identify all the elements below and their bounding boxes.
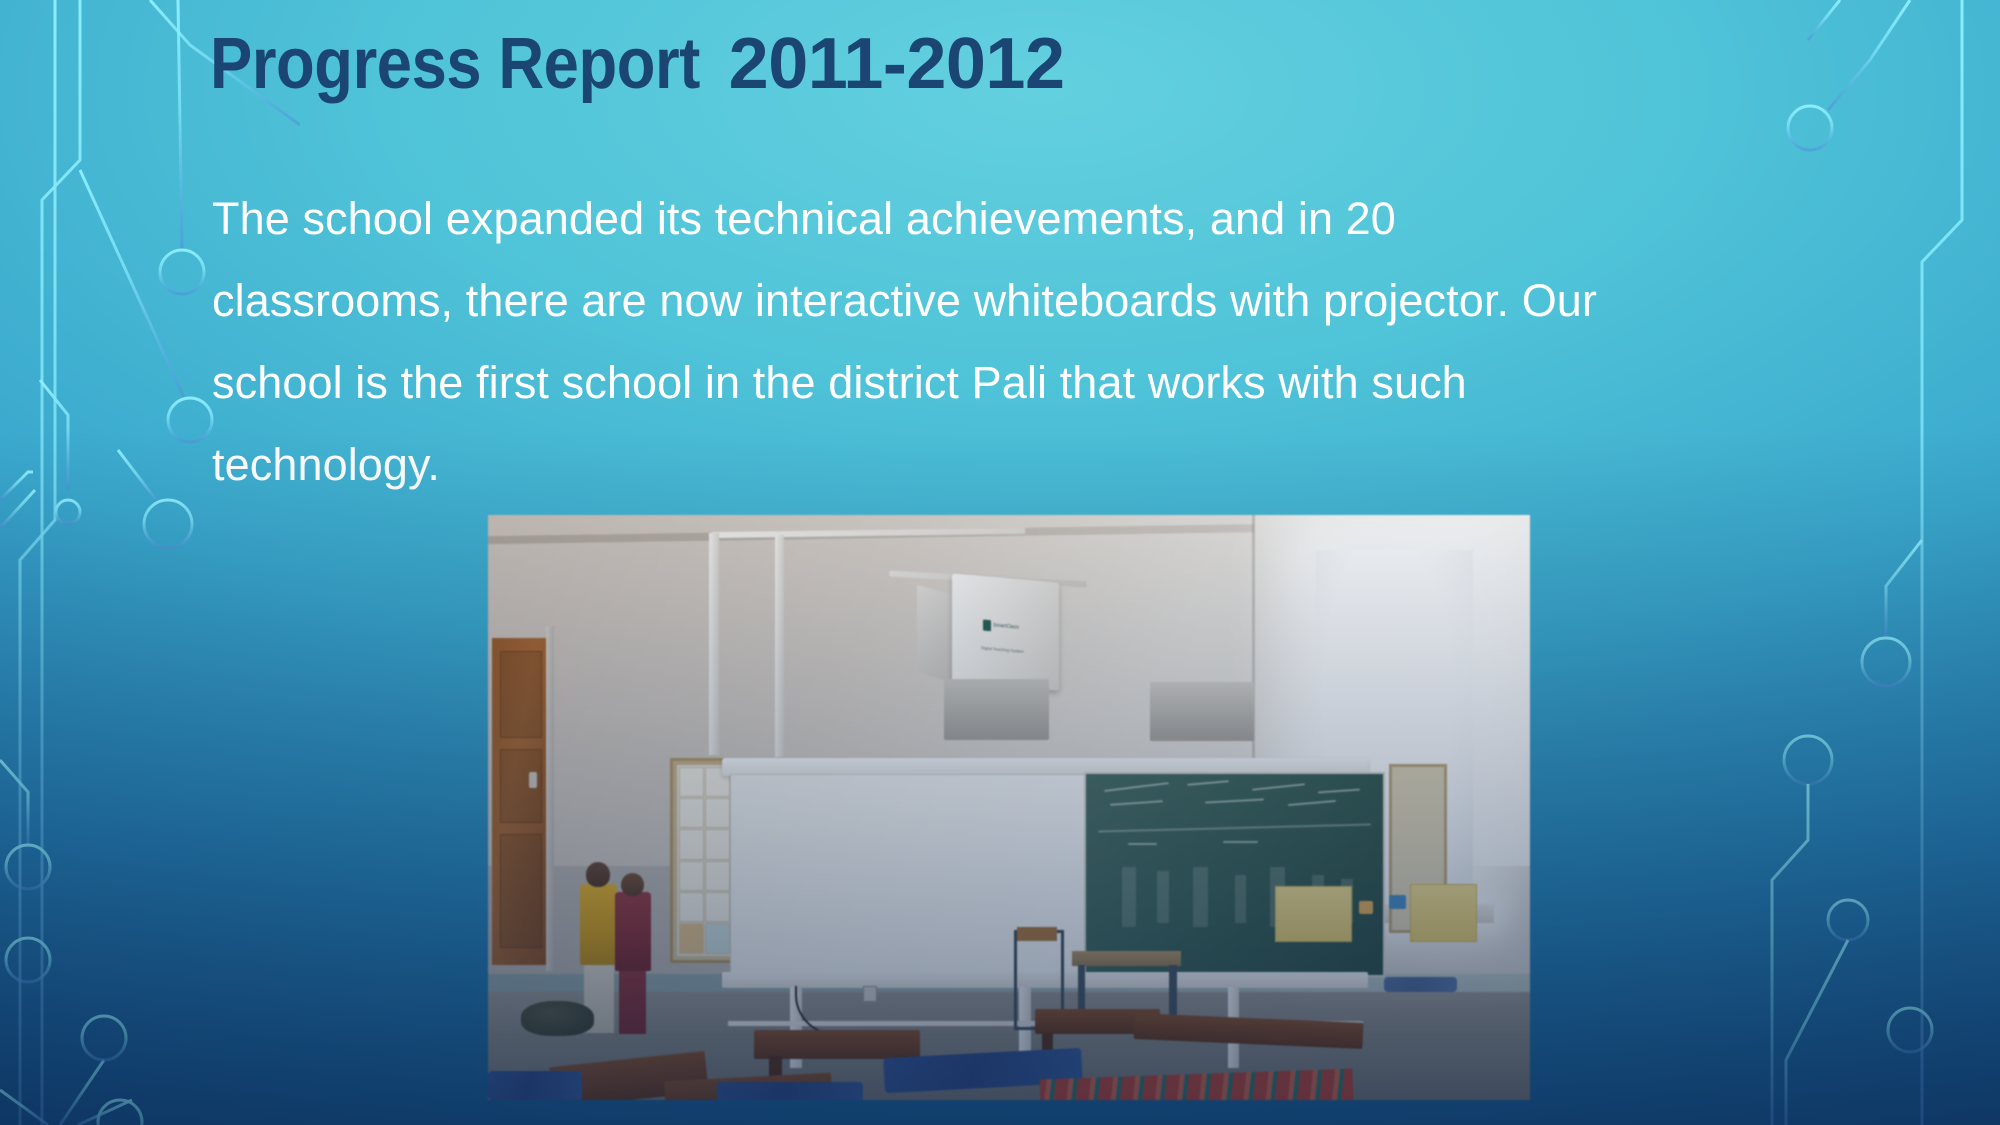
page-title-years: 2011-2012: [729, 28, 1065, 100]
photo-desk-leg-right: [1169, 965, 1176, 1018]
photo-projector-brand: SmartClass: [993, 623, 1019, 631]
photo-door: [492, 638, 549, 966]
right-circuit-decoration: [1700, 0, 2000, 1125]
photo-student-2-head: [621, 873, 644, 896]
photo-student-1-body: [580, 884, 618, 966]
photo-poster-sticker-b: [1389, 895, 1406, 909]
photo-school-bag: [521, 1001, 594, 1036]
photo-poster-sticker-a: [1359, 901, 1373, 914]
photo-poster-left: [1275, 886, 1352, 942]
body-paragraph: The school expanded its technical achiev…: [212, 178, 1632, 506]
photo-mat-blue-front: [717, 1082, 863, 1100]
page-title-main: Progress Report: [210, 28, 700, 100]
photo-chair-rear-seat: [1017, 927, 1057, 941]
photo-green-chalkboard: [1084, 772, 1385, 977]
left-circuit-decoration: [0, 0, 300, 1125]
photo-bench-center: [754, 1030, 921, 1059]
photo-speaker-box: [1150, 682, 1254, 742]
classroom-photo: SmartClass Digital Teaching System: [488, 515, 1530, 1100]
photo-desk-top: [1072, 951, 1181, 966]
photo-projector-arm-left: [709, 533, 719, 755]
photo-student-2-body: [615, 892, 650, 971]
photo-projector-mount-box: [944, 679, 1048, 740]
slide-canvas: Progress Report2011-2012 The school expa…: [0, 0, 2000, 1125]
photo-mat-blue-left: [488, 1071, 582, 1100]
photo-door-handle: [529, 772, 537, 787]
smartclass-logo-icon: [983, 619, 991, 631]
page-title: Progress Report2011-2012: [210, 28, 1065, 100]
photo-door-frame: [546, 626, 553, 971]
photo-cloth-right: [1384, 977, 1457, 992]
photo-poster-right: [1410, 884, 1477, 942]
photo-projector-logo: SmartClass: [983, 607, 1040, 647]
photo-student-1-head: [586, 862, 610, 887]
photo-student-2-legs: [619, 967, 646, 1034]
photo-projector-arm-right: [775, 535, 784, 757]
